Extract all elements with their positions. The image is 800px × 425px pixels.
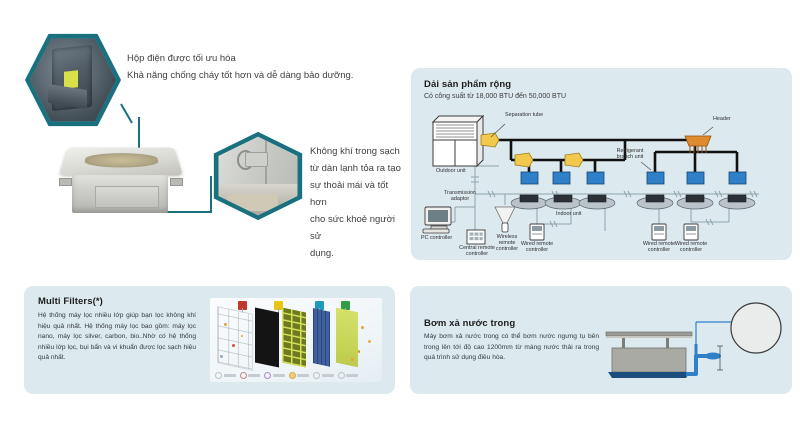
system-diagram: Separation tube Header Refrigerant branc… bbox=[419, 104, 785, 254]
room-cassette-unit bbox=[245, 152, 268, 167]
refrigerant-branch-units bbox=[521, 172, 746, 184]
legend-label bbox=[322, 374, 334, 377]
legend-dot bbox=[240, 372, 247, 379]
drain-pump-illustration bbox=[600, 296, 786, 386]
panel-lineup-subtitle: Có công suất từ 18,000 BTU đến 50,000 BT… bbox=[424, 93, 566, 100]
legend-dot bbox=[338, 372, 345, 379]
diagram-label-indoor-unit: Indoor unit bbox=[556, 211, 581, 217]
callout-air-line3: sự thoải mái và tốt hơn bbox=[310, 177, 406, 211]
central-remote-line2: controller bbox=[466, 251, 488, 257]
legend-item bbox=[215, 372, 236, 379]
panel-product-lineup: Dải sản phẩm rộng Có công suất từ 18,000… bbox=[411, 68, 792, 260]
central-remote-controller-graphic bbox=[467, 230, 485, 244]
cassette-bracket-right bbox=[170, 178, 184, 186]
legend-item bbox=[338, 372, 359, 379]
wired-remote-3-line2: controller bbox=[680, 247, 702, 253]
legend-dot bbox=[289, 372, 296, 379]
legend-dot bbox=[264, 372, 271, 379]
wired-remote-1-line2: controller bbox=[526, 247, 548, 253]
cassette-unit-photo bbox=[56, 138, 186, 230]
transmission-adaptor-line2: adaptor bbox=[451, 196, 469, 202]
connector-line-hex1-diagonal bbox=[120, 104, 133, 124]
indoor-units bbox=[511, 195, 755, 209]
header-graphic bbox=[685, 136, 711, 153]
outdoor-unit-graphic bbox=[433, 116, 483, 166]
refrigerant-branch-unit-line2: branch unit bbox=[617, 154, 644, 160]
infographic-page: Hộp điện được tối ưu hóa Khả năng chống … bbox=[0, 0, 800, 425]
callout-air-line4: cho sức khoẻ người sử bbox=[310, 211, 406, 245]
diagram-label-separation-tube: Separation tube bbox=[505, 112, 543, 118]
wired-remote-controllers bbox=[530, 224, 698, 240]
diagram-label-wired-remote-controller-3: Wired remote controller bbox=[668, 241, 714, 253]
legend-label bbox=[224, 374, 236, 377]
legend-label bbox=[297, 374, 309, 377]
cassette-side-panel bbox=[95, 186, 159, 208]
panel-drain-title: Bơm xả nước trong bbox=[424, 318, 515, 329]
callout-text-electrical-box: Hộp điện được tối ưu hóa Khả năng chống … bbox=[127, 50, 377, 84]
diagram-label-outdoor-unit: Outdoor unit bbox=[436, 168, 466, 174]
callout-air-line2: từ dàn lạnh tỏa ra tạo bbox=[310, 160, 406, 177]
legend-item bbox=[313, 372, 334, 379]
diagram-label-transmission-adaptor: Transmission adaptor bbox=[435, 190, 485, 202]
callout-electrical-line2: Khả năng chống cháy tốt hơn và dễ dàng b… bbox=[127, 67, 377, 84]
diagram-label-header: Header bbox=[713, 116, 731, 122]
legend-dot bbox=[215, 372, 222, 379]
panel-lineup-title: Dải sản phẩm rộng bbox=[424, 79, 511, 90]
hex-callout-clean-air bbox=[212, 131, 304, 221]
cassette-internals bbox=[83, 153, 159, 168]
wireless-remote-controller-graphic bbox=[495, 207, 515, 232]
legend-item bbox=[289, 372, 310, 379]
panel-drain-body: Máy bơm xả nước trong có thể bơm nước ng… bbox=[424, 332, 599, 364]
panel-drain-pump: Bơm xả nước trong Máy bơm xả nước trong … bbox=[410, 286, 792, 394]
legend-label bbox=[248, 374, 260, 377]
callout-air-line5: dụng. bbox=[310, 245, 406, 262]
callout-air-line1: Không khí trong sạch bbox=[310, 143, 406, 160]
legend-item bbox=[240, 372, 261, 379]
separation-tube-joints bbox=[481, 133, 583, 167]
dust-particles bbox=[210, 298, 382, 382]
legend-dot bbox=[313, 372, 320, 379]
pc-controller-graphic bbox=[423, 207, 451, 233]
diagram-label-refrigerant-branch-unit: Refrigerant branch unit bbox=[610, 148, 650, 160]
wired-remote-2-line2: controller bbox=[648, 247, 670, 253]
hex-callout-electrical-box bbox=[24, 32, 122, 128]
filter-legend bbox=[215, 371, 377, 379]
panel-filters-title: Multi Filters(*) bbox=[38, 296, 103, 307]
cassette-bracket-left bbox=[59, 178, 73, 186]
legend-label bbox=[346, 374, 358, 377]
multi-filter-illustration bbox=[210, 298, 382, 382]
panel-multi-filters: Multi Filters(*) Hệ thống máy lọc nhiều … bbox=[24, 286, 395, 394]
diagram-label-pc-controller: PC controller bbox=[421, 235, 452, 241]
callout-text-clean-air: Không khí trong sạch từ dàn lạnh tỏa ra … bbox=[310, 143, 406, 262]
panel-filters-body: Hệ thống máy lọc nhiều lớp giúp bạn lọc … bbox=[38, 311, 196, 364]
legend-item bbox=[264, 372, 285, 379]
diagram-label-wired-remote-controller-1: Wired remote controller bbox=[514, 241, 560, 253]
callout-electrical-line1: Hộp điện được tối ưu hóa bbox=[127, 50, 377, 67]
legend-label bbox=[273, 374, 285, 377]
